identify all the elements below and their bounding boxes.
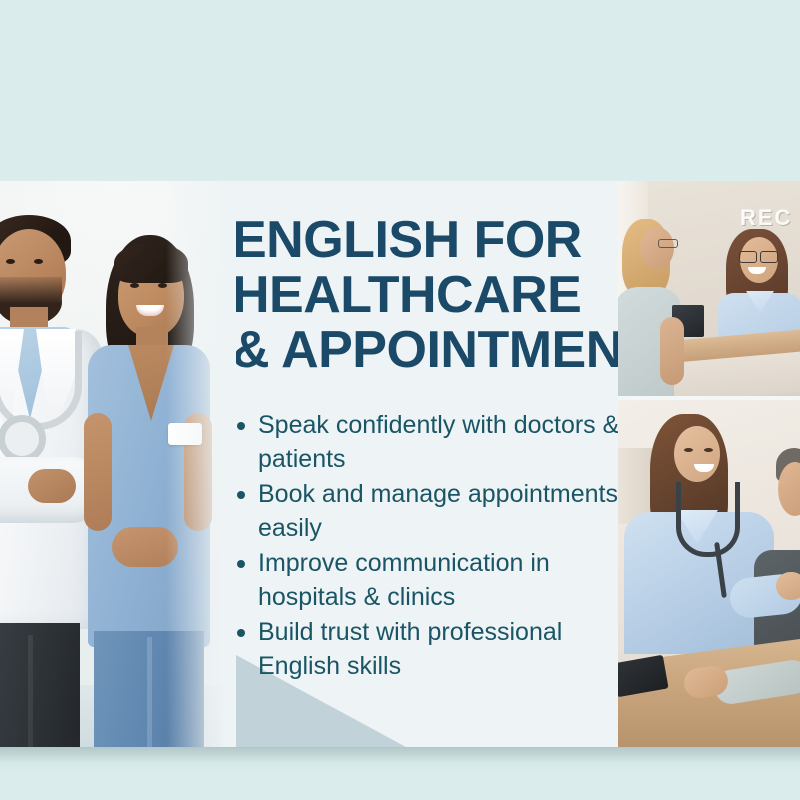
photo-doctor-examining-patient (618, 400, 800, 747)
page-title: ENGLISH FOR HEALTHCARE & APPOINTMENT (236, 213, 618, 378)
patient-glasses-icon (658, 239, 678, 248)
stethoscope-tubing (676, 482, 740, 557)
list-item: Book and manage appointments easily (236, 477, 618, 545)
stethoscope-icon (676, 482, 730, 600)
nurse-eye-left (130, 283, 139, 288)
benefits-list: Speak confidently with doctors & patient… (236, 408, 618, 684)
stethoscope-tubing (0, 331, 82, 430)
reception-sign-text: REC (740, 205, 792, 231)
right-photo-column: REC (618, 181, 800, 747)
consult-doctor-eye-right (704, 448, 713, 452)
receptionist-glasses-icon (739, 251, 779, 261)
doctor-hand (28, 469, 76, 503)
consult-doctor-eye-left (684, 448, 693, 452)
consult-doctor-hand (776, 572, 800, 600)
stethoscope-bell (0, 415, 46, 463)
card-drop-shadow (0, 747, 800, 773)
photo-reception-desk: REC (618, 181, 800, 396)
text-panel: ENGLISH FOR HEALTHCARE & APPOINTMENT Spe… (236, 181, 618, 747)
banner-card: ENGLISH FOR HEALTHCARE & APPOINTMENT Spe… (0, 181, 800, 747)
patient-head (640, 227, 674, 269)
doctor-trousers (0, 623, 80, 747)
photo-doctor-and-nurse (0, 181, 236, 747)
list-item: Speak confidently with doctors & patient… (236, 408, 618, 476)
nurse-arm-left (84, 413, 112, 531)
poster-canvas: ENGLISH FOR HEALTHCARE & APPOINTMENT Spe… (0, 0, 800, 800)
list-item: Improve communication in hospitals & cli… (236, 546, 618, 614)
doctor-eye-right (34, 259, 43, 264)
stethoscope-icon (0, 331, 68, 451)
list-item: Build trust with professional English sk… (236, 615, 618, 683)
photo-fade-edge (166, 181, 236, 747)
headline-line-3: & APPOINTMENT (236, 323, 618, 378)
headline-line-2: HEALTHCARE (236, 268, 618, 323)
consult-doctor-head (674, 426, 720, 482)
doctor-eye-left (6, 259, 15, 264)
patient-arm (660, 317, 684, 385)
headline-line-1: ENGLISH FOR (236, 213, 618, 268)
